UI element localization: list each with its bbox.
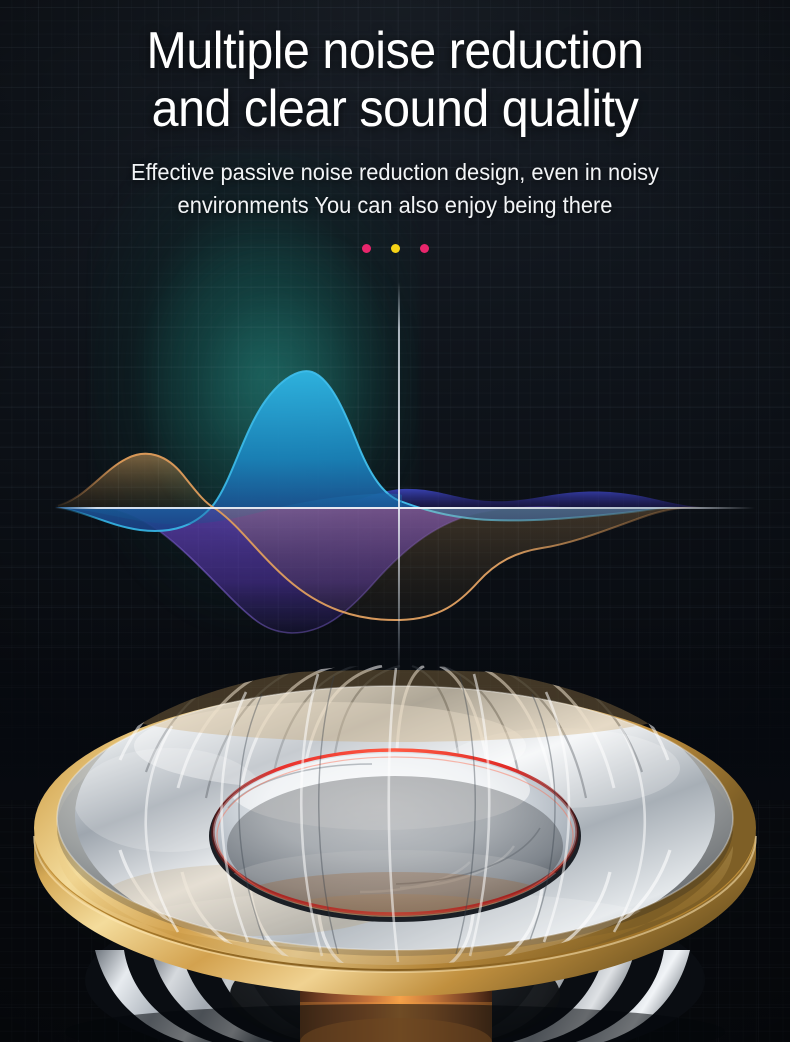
dot-pink-right	[420, 244, 429, 253]
page-title: Multiple noise reduction and clear sound…	[28, 0, 763, 138]
poster-canvas: Multiple noise reduction and clear sound…	[0, 0, 790, 1042]
product-image-speaker-driver	[0, 650, 790, 1042]
wave-series-orange-fill	[58, 453, 214, 507]
dot-indicator-group	[0, 244, 790, 253]
dot-yellow	[391, 244, 400, 253]
dot-pink-left	[362, 244, 371, 253]
page-subtitle: Effective passive noise reduction design…	[20, 156, 771, 222]
waveform-baseline-horizontal	[55, 507, 755, 509]
speaker-driver-svg	[0, 650, 790, 1042]
text-block: Multiple noise reduction and clear sound…	[0, 0, 790, 253]
